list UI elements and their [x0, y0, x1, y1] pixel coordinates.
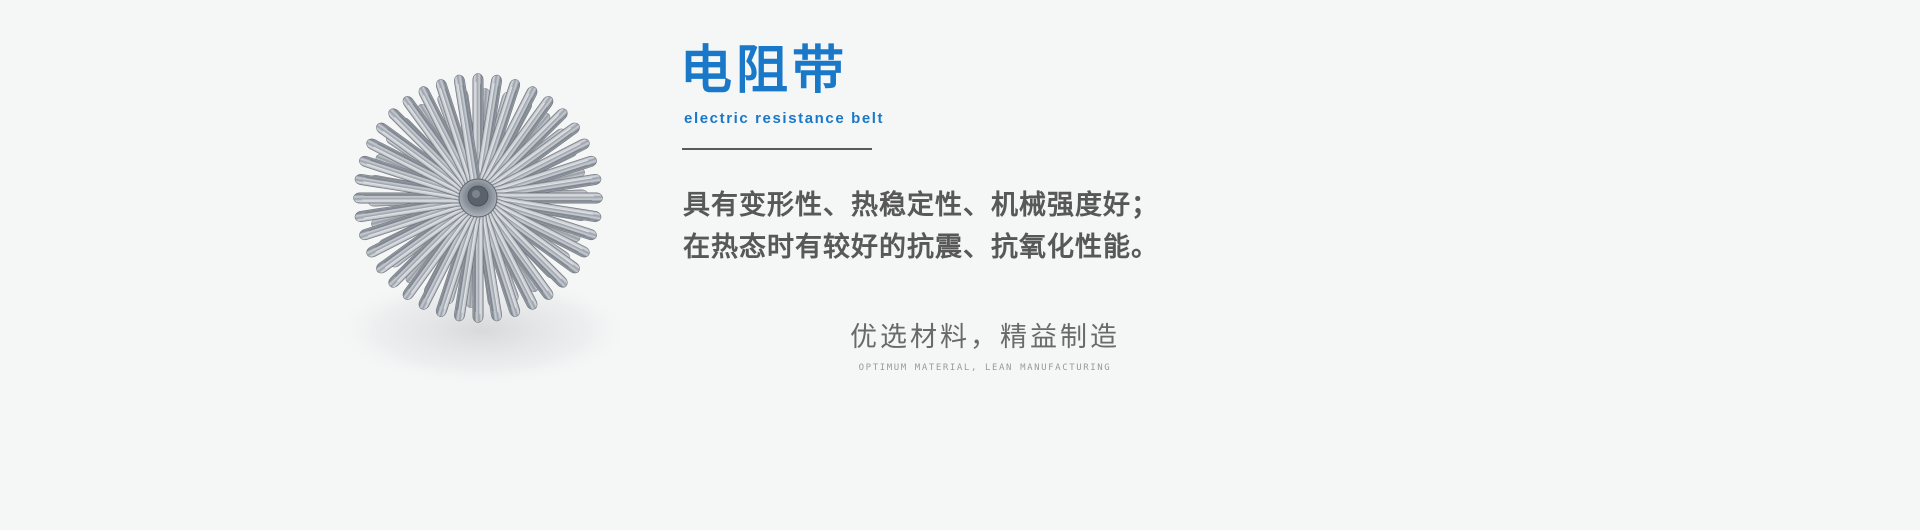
tagline-chinese: 优选材料，精益制造	[775, 320, 1195, 356]
resistance-belt-illustration	[300, 30, 660, 390]
product-image	[300, 30, 660, 390]
page-subtitle: electric resistance belt	[684, 110, 1200, 127]
description-line-2: 在热态时有较好的抗震、抗氧化性能。	[683, 227, 1303, 269]
title-divider	[682, 148, 872, 150]
page-title: 电阻带	[680, 42, 1200, 100]
description-block: 具有变形性、热稳定性、机械强度好； 在热态时有较好的抗震、抗氧化性能。	[683, 185, 1303, 269]
banner-content: 电阻带 electric resistance belt 具有变形性、热稳定性、…	[680, 0, 1580, 530]
tagline-english: OPTIMUM MATERIAL, LEAN MANUFACTURING	[775, 362, 1195, 374]
product-banner: 电阻带 electric resistance belt 具有变形性、热稳定性、…	[0, 0, 1920, 530]
tagline-block: 优选材料，精益制造 OPTIMUM MATERIAL, LEAN MANUFAC…	[775, 320, 1195, 374]
description-line-1: 具有变形性、热稳定性、机械强度好；	[683, 185, 1303, 227]
title-block: 电阻带 electric resistance belt	[680, 42, 1200, 127]
